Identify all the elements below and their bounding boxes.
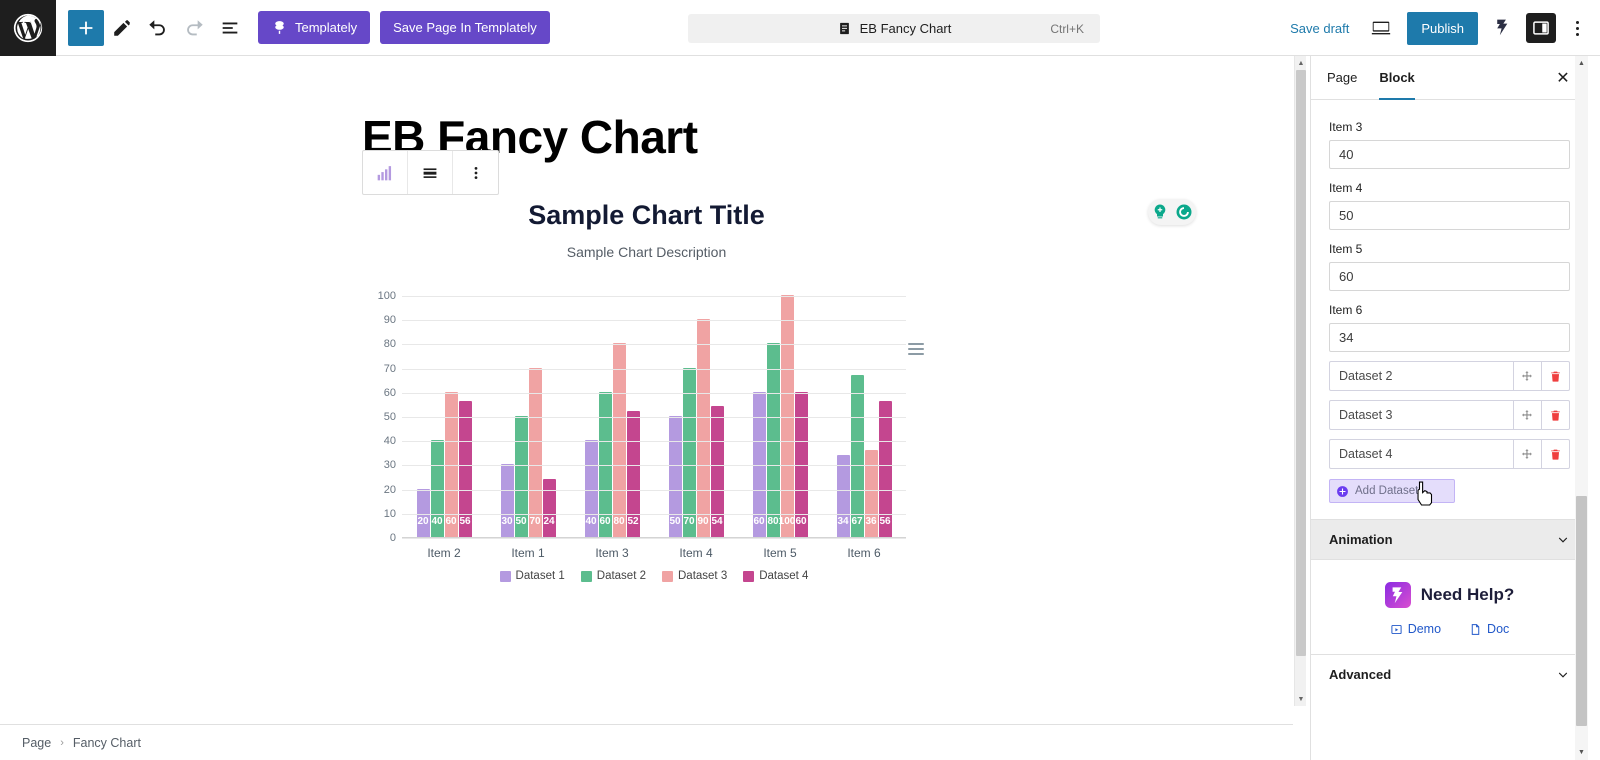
need-help-links: Demo Doc (1311, 622, 1588, 636)
chart-bar-value-label: 60 (599, 516, 610, 527)
doc-page-icon (1469, 623, 1482, 636)
chart-bar[interactable]: 90 (697, 319, 710, 537)
field-label: Item 3 (1329, 120, 1570, 134)
y-axis-tick-label: 70 (384, 363, 396, 375)
chart-bar[interactable]: 56 (879, 401, 892, 537)
breadcrumb: Page › Fancy Chart (0, 724, 1293, 760)
save-page-in-templately-button[interactable]: Save Page In Templately (380, 11, 550, 44)
sidebar-scrollbar[interactable]: ▲ ▼ (1575, 56, 1588, 760)
chart-x-axis-labels: Item 2Item 1Item 3Item 4Item 5Item 6 (402, 546, 906, 560)
sidebar-panels: Animation Need Help? Demo (1311, 519, 1588, 694)
chart-bar-value-label: 80 (613, 516, 624, 527)
chart-bar[interactable]: 40 (431, 440, 444, 537)
templately-button[interactable]: Templately (258, 11, 370, 44)
block-toolbar (362, 150, 499, 195)
chart-gridline (402, 490, 906, 491)
chevron-down-icon (1556, 533, 1570, 547)
save-templately-label: Save Page In Templately (393, 20, 537, 35)
chart-bar[interactable]: 56 (459, 401, 472, 537)
field-label: Item 6 (1329, 303, 1570, 317)
chart-bar-groups: 2040605630507024406080525070905460801006… (402, 295, 906, 537)
field-item-6: Item 6 (1329, 303, 1570, 352)
trash-icon[interactable] (1541, 401, 1569, 429)
chart-bar-value-label: 50 (669, 516, 680, 527)
chart-bar-value-label: 54 (711, 516, 722, 527)
save-draft-button[interactable]: Save draft (1280, 21, 1359, 36)
chart-bar[interactable]: 24 (543, 479, 556, 537)
scroll-up-arrow-icon[interactable]: ▲ (1577, 59, 1586, 68)
legend-label: Dataset 1 (516, 570, 565, 582)
y-axis-tick-label: 0 (390, 532, 396, 544)
bar-chart-icon[interactable] (363, 151, 408, 194)
need-help-title-row: Need Help? (1311, 582, 1588, 608)
breadcrumb-page[interactable]: Page (22, 736, 51, 750)
plus-circle-icon (1336, 485, 1349, 498)
templately-label: Templately (295, 20, 357, 35)
chart-bar[interactable]: 100 (781, 295, 794, 537)
x-axis-label: Item 1 (486, 546, 570, 560)
chart-bar[interactable]: 67 (851, 375, 864, 537)
move-handle-icon[interactable] (1513, 401, 1541, 429)
chart-bar-value-label: 34 (837, 516, 848, 527)
chart-bar-group: 30507024 (486, 295, 570, 537)
legend-item[interactable]: Dataset 4 (743, 570, 808, 582)
chart-bar[interactable]: 52 (627, 411, 640, 537)
chart-bar-value-label: 50 (515, 516, 526, 527)
chart-bar-value-label: 52 (627, 516, 638, 527)
legend-swatch (581, 571, 592, 582)
item-3-input[interactable] (1329, 140, 1570, 169)
chart-bar-group: 40608052 (570, 295, 654, 537)
chart-bar-group: 608010060 (738, 295, 822, 537)
editor-canvas: EB Fancy Chart Sample Chart Title Sample… (0, 56, 1293, 706)
y-axis-tick-label: 10 (384, 508, 396, 520)
chart-gridline (402, 538, 906, 539)
breadcrumb-separator: › (60, 737, 64, 749)
demo-screen-icon (1390, 623, 1403, 636)
chart-bar-group: 34673656 (822, 295, 906, 537)
chart-gridline (402, 369, 906, 370)
chart-bar-value-label: 70 (529, 516, 540, 527)
essential-blocks-icon[interactable] (1488, 13, 1518, 43)
chevron-down-icon (1556, 668, 1570, 682)
fancy-chart[interactable]: 2040605630507024406080525070905460801006… (386, 288, 906, 608)
item-6-input[interactable] (1329, 323, 1570, 352)
x-axis-label: Item 4 (654, 546, 738, 560)
panel-advanced[interactable]: Advanced (1311, 654, 1588, 694)
chart-gridline (402, 514, 906, 515)
chart-bar-value-label: 40 (585, 516, 596, 527)
demo-label: Demo (1408, 622, 1441, 636)
field-item-5: Item 5 (1329, 242, 1570, 291)
chart-legend: Dataset 1Dataset 2Dataset 3Dataset 4 (402, 570, 906, 582)
close-icon[interactable]: ✕ (1552, 67, 1574, 89)
chart-bar-value-label: 20 (417, 516, 428, 527)
chart-gridline (402, 320, 906, 321)
publish-label: Publish (1421, 21, 1464, 36)
sidebar-scrollbar-thumb[interactable] (1576, 496, 1587, 726)
chart-bar[interactable]: 30 (501, 464, 514, 537)
chart-context-menu-icon[interactable] (908, 343, 924, 358)
sidebar-tabs: Page Block ✕ (1311, 56, 1588, 100)
wordpress-logo-icon[interactable] (0, 0, 56, 56)
field-label: Item 5 (1329, 242, 1570, 256)
sidebar-body: Item 3 Item 4 Item 5 Item 6 Dataset 2 (1311, 100, 1588, 503)
add-dataset-label: Add Dataset (1355, 485, 1418, 497)
chart-bar[interactable]: 36 (865, 450, 878, 537)
chart-title: Sample Chart Title (0, 200, 1293, 231)
command-title: EB Fancy Chart (860, 21, 952, 36)
dataset-name[interactable]: Dataset 2 (1330, 362, 1513, 390)
chart-bar[interactable]: 20 (417, 489, 430, 537)
chart-gridline (402, 417, 906, 418)
sidebar-toggle-icon[interactable] (1526, 13, 1556, 43)
need-help-title: Need Help? (1421, 585, 1515, 605)
chart-bar[interactable]: 50 (515, 416, 528, 537)
chart-gridline (402, 344, 906, 345)
chart-bar-value-label: 56 (459, 516, 470, 527)
pencil-icon[interactable] (104, 10, 140, 46)
command-palette-bar[interactable]: EB Fancy Chart Ctrl+K (688, 14, 1100, 43)
publish-button[interactable]: Publish (1407, 12, 1478, 45)
y-axis-tick-label: 80 (384, 338, 396, 350)
chart-bar-value-label: 56 (879, 516, 890, 527)
doc-link[interactable]: Doc (1469, 622, 1509, 636)
top-bar-right-tools: Save draft Publish (1280, 0, 1592, 56)
canvas-scrollbar[interactable]: ▲ ▼ (1294, 56, 1306, 706)
add-block-button[interactable] (68, 10, 104, 46)
vertical-dots-icon[interactable] (453, 151, 498, 194)
scroll-up-arrow-icon[interactable]: ▲ (1296, 58, 1306, 68)
chart-bar-value-label: 36 (865, 516, 876, 527)
dataset-name[interactable]: Dataset 3 (1330, 401, 1513, 429)
y-axis-tick-label: 60 (384, 387, 396, 399)
y-axis-tick-label: 40 (384, 435, 396, 447)
need-help-box: Need Help? Demo Doc (1311, 559, 1588, 654)
chart-bar[interactable]: 34 (837, 455, 850, 537)
chart-bar-value-label: 60 (753, 516, 764, 527)
scroll-down-arrow-icon[interactable]: ▼ (1296, 694, 1306, 704)
chart-bar-value-label: 67 (851, 516, 862, 527)
field-item-4: Item 4 (1329, 181, 1570, 230)
legend-swatch (500, 571, 511, 582)
breadcrumb-block[interactable]: Fancy Chart (73, 736, 141, 750)
panel-animation[interactable]: Animation (1311, 519, 1588, 559)
dataset-row[interactable]: Dataset 4 (1329, 439, 1570, 469)
trash-icon[interactable] (1541, 440, 1569, 468)
legend-label: Dataset 4 (759, 570, 808, 582)
editor-top-bar: Templately Save Page In Templately EB Fa… (0, 0, 1600, 56)
command-shortcut: Ctrl+K (1050, 22, 1084, 36)
x-axis-label: Item 6 (822, 546, 906, 560)
panel-label: Animation (1329, 532, 1393, 547)
y-axis-tick-label: 90 (384, 314, 396, 326)
canvas-scrollbar-thumb[interactable] (1296, 70, 1306, 656)
scroll-down-arrow-icon[interactable]: ▼ (1577, 748, 1586, 757)
document-overview-icon[interactable] (212, 10, 248, 46)
chart-gridline (402, 296, 906, 297)
chart-bar-value-label: 90 (697, 516, 708, 527)
chart-bar-value-label: 60 (445, 516, 456, 527)
chart-bar[interactable]: 50 (669, 416, 682, 537)
align-icon[interactable] (408, 151, 453, 194)
chart-bar-value-label: 30 (501, 516, 512, 527)
item-5-input[interactable] (1329, 262, 1570, 291)
legend-item[interactable]: Dataset 1 (500, 570, 565, 582)
document-icon (837, 21, 852, 36)
move-handle-icon[interactable] (1513, 362, 1541, 390)
chart-bar-group: 20406056 (402, 295, 486, 537)
y-axis-tick-label: 20 (384, 484, 396, 496)
chart-bar-value-label: 60 (795, 516, 806, 527)
legend-label: Dataset 2 (597, 570, 646, 582)
x-axis-label: Item 2 (402, 546, 486, 560)
editor-root: Templately Save Page In Templately EB Fa… (0, 0, 1600, 760)
undo-arrow-icon[interactable] (140, 10, 176, 46)
redo-arrow-icon[interactable] (176, 10, 212, 46)
legend-label: Dataset 3 (678, 570, 727, 582)
trash-icon[interactable] (1541, 362, 1569, 390)
legend-swatch (662, 571, 673, 582)
dataset-name[interactable]: Dataset 4 (1330, 440, 1513, 468)
chart-bar[interactable]: 40 (585, 440, 598, 537)
chart-description: Sample Chart Description (0, 244, 1293, 260)
field-label: Item 4 (1329, 181, 1570, 195)
chart-bar[interactable]: 54 (711, 406, 724, 537)
chart-bar-value-label: 40 (431, 516, 442, 527)
chart-gridline (402, 441, 906, 442)
essential-blocks-logo-icon (1385, 582, 1411, 608)
move-handle-icon[interactable] (1513, 440, 1541, 468)
dataset-row[interactable]: Dataset 3 (1329, 400, 1570, 430)
demo-link[interactable]: Demo (1390, 622, 1441, 636)
block-settings-sidebar: Page Block ✕ Item 3 Item 4 Item 5 Item 6 (1310, 56, 1588, 760)
chart-bar-value-label: 100 (779, 516, 796, 527)
kebab-menu-icon[interactable] (1562, 21, 1592, 36)
x-axis-label: Item 5 (738, 546, 822, 560)
y-axis-tick-label: 30 (384, 459, 396, 471)
item-4-input[interactable] (1329, 201, 1570, 230)
chart-bar-group: 50709054 (654, 295, 738, 537)
dataset-row[interactable]: Dataset 2 (1329, 361, 1570, 391)
legend-item[interactable]: Dataset 2 (581, 570, 646, 582)
chart-gridline (402, 465, 906, 466)
x-axis-label: Item 3 (570, 546, 654, 560)
tab-block[interactable]: Block (1379, 56, 1414, 100)
chart-bar-value-label: 70 (683, 516, 694, 527)
chart-plot-area: 2040605630507024406080525070905460801006… (402, 296, 906, 538)
y-axis-tick-label: 100 (378, 290, 396, 302)
field-item-3: Item 3 (1329, 120, 1570, 169)
doc-label: Doc (1487, 622, 1509, 636)
desktop-preview-icon[interactable] (1363, 10, 1399, 46)
chart-bar-value-label: 24 (543, 516, 554, 527)
panel-label: Advanced (1329, 667, 1391, 682)
y-axis-tick-label: 50 (384, 411, 396, 423)
legend-swatch (743, 571, 754, 582)
legend-item[interactable]: Dataset 3 (662, 570, 727, 582)
chart-bar-value-label: 80 (767, 516, 778, 527)
top-bar-left-tools: Templately Save Page In Templately (56, 10, 550, 46)
add-dataset-button[interactable]: Add Dataset (1329, 479, 1455, 503)
chart-gridline (402, 393, 906, 394)
tab-page[interactable]: Page (1327, 56, 1357, 100)
